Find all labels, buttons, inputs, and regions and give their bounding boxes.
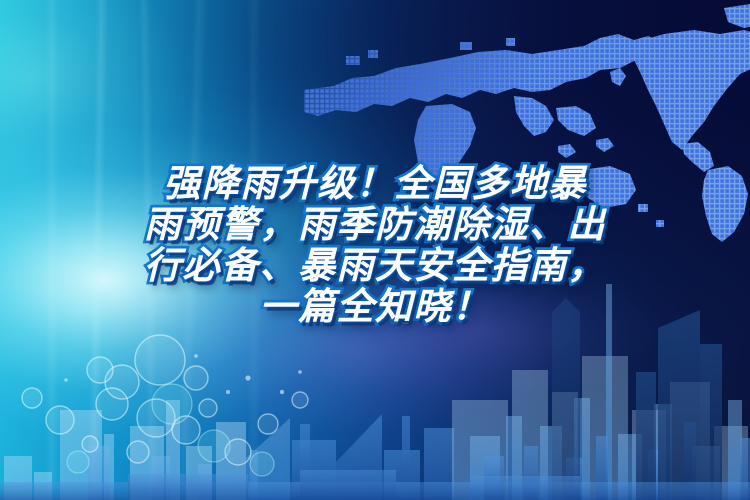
headline-line-4: 一篇全知晓！ (34, 286, 716, 327)
banner-image: 强降雨升级！全国多地暴 雨预警，雨季防潮除湿、出 行必备、暴雨天安全指南， 一篇… (0, 0, 750, 500)
headline-line-2: 雨预警，雨季防潮除湿、出 (34, 204, 716, 245)
headline-text: 强降雨升级！全国多地暴 雨预警，雨季防潮除湿、出 行必备、暴雨天安全指南， 一篇… (0, 163, 750, 327)
headline-line-1: 强降雨升级！全国多地暴 (34, 163, 716, 204)
headline-line-3: 行必备、暴雨天安全指南， (34, 245, 716, 286)
